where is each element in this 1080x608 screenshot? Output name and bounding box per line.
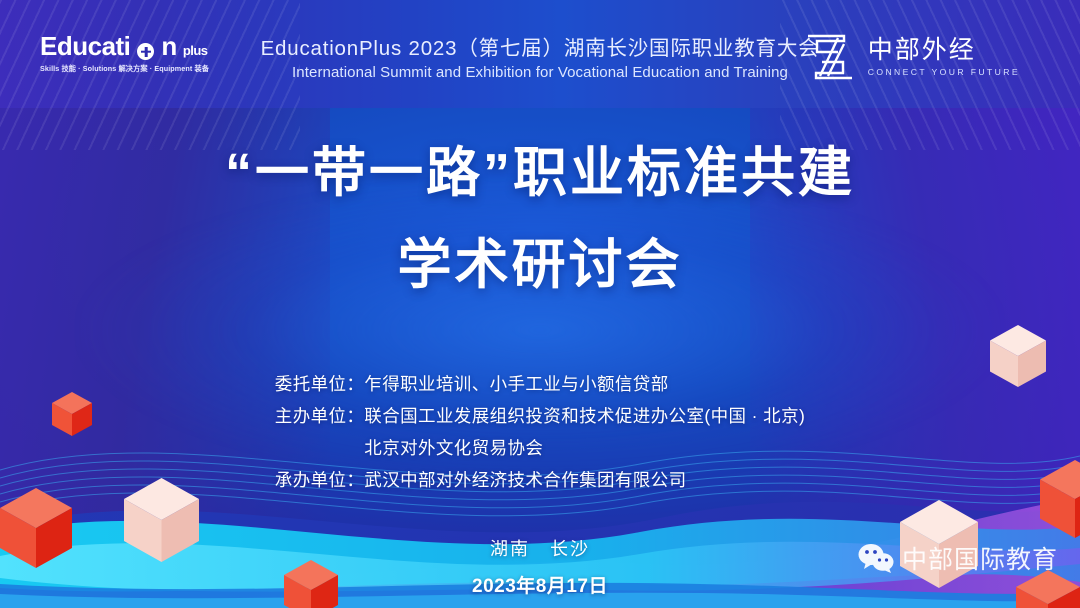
logo-subtitle: Skills 技能 · Solutions 解决方案 · Equipment 装… xyxy=(40,64,220,74)
logo-word-part1: Educati xyxy=(40,33,130,59)
wechat-icon xyxy=(858,543,894,573)
zs-monogram-icon xyxy=(804,32,856,82)
info-row-host-2: 北京对外文化贸易协会 xyxy=(275,432,805,464)
info-row-host: 主办单位：联合国工业发展组织投资和技术促进办公室(中国 · 北京) xyxy=(275,400,805,432)
circle-plus-icon xyxy=(137,43,154,60)
logo-plus-label: plus xyxy=(183,44,208,59)
logo-right-tagline: CONNECT YOUR FUTURE xyxy=(868,67,1020,77)
logo-right-text: 中部外经 CONNECT YOUR FUTURE xyxy=(868,37,1020,76)
wechat-watermark: 中部国际教育 xyxy=(858,540,1058,576)
info-row-organizer: 承办单位：武汉中部对外经济技术合作集团有限公司 xyxy=(275,464,805,496)
main-title-line-1: “一带一路”职业标准共建 xyxy=(0,146,1080,200)
logo-right-name: 中部外经 xyxy=(868,37,1020,63)
logo-zhongbu-waijing[interactable]: 中部外经 CONNECT YOUR FUTURE xyxy=(804,32,1020,82)
wechat-account-name: 中部国际教育 xyxy=(902,540,1058,576)
main-title-line-2: 学术研讨会 xyxy=(0,238,1080,292)
conference-title-en: International Summit and Exhibition for … xyxy=(261,63,820,83)
main-title: “一带一路”职业标准共建 学术研讨会 xyxy=(0,146,1080,292)
organizer-info-block: 委托单位：乍得职业培训、小手工业与小额信贷部 主办单位：联合国工业发展组织投资和… xyxy=(0,368,1080,496)
conference-title-block: EducationPlus 2023（第七届）湖南长沙国际职业教育大会 Inte… xyxy=(261,36,820,82)
logo-education-plus[interactable]: Educatin plus Skills 技能 · Solutions 解决方案… xyxy=(40,33,220,74)
info-row-entrusted: 委托单位：乍得职业培训、小手工业与小额信贷部 xyxy=(275,368,805,400)
conference-title-cn: EducationPlus 2023（第七届）湖南长沙国际职业教育大会 xyxy=(261,36,820,62)
poster-slide: Educatin plus Skills 技能 · Solutions 解决方案… xyxy=(0,0,1080,608)
logo-word-part2: n xyxy=(161,33,176,59)
logo-education-plus-wordmark: Educatin plus xyxy=(40,33,220,59)
header: Educatin plus Skills 技能 · Solutions 解决方案… xyxy=(0,0,1080,108)
